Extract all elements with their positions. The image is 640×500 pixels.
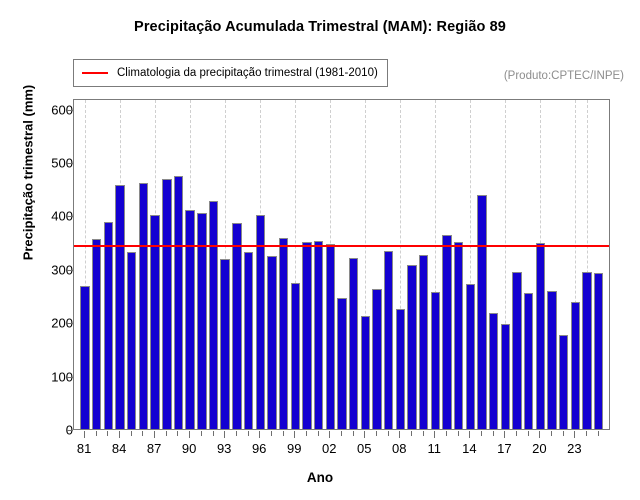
bar bbox=[337, 298, 346, 429]
x-axis-tick-mark bbox=[119, 431, 120, 438]
x-axis-tick-label: 81 bbox=[77, 441, 91, 456]
x-axis-tick-mark bbox=[481, 431, 482, 436]
x-axis-tick-label: 08 bbox=[392, 441, 406, 456]
x-axis-tick-mark bbox=[364, 431, 365, 438]
bar bbox=[372, 289, 381, 429]
x-axis-tick-labels: 818487909396990205081114172023 bbox=[73, 441, 610, 459]
bar bbox=[477, 195, 486, 429]
bar bbox=[512, 272, 521, 429]
bar bbox=[232, 223, 241, 429]
bar bbox=[454, 242, 463, 429]
x-axis-tick-label: 99 bbox=[287, 441, 301, 456]
x-axis-tick-mark bbox=[411, 431, 412, 436]
bar bbox=[80, 286, 89, 429]
bar bbox=[92, 239, 101, 429]
x-axis-tick-mark bbox=[388, 431, 389, 436]
x-axis-tick-label: 96 bbox=[252, 441, 266, 456]
bar bbox=[220, 259, 229, 429]
bar bbox=[536, 243, 545, 429]
bar bbox=[442, 235, 451, 429]
x-axis-tick-mark bbox=[248, 431, 249, 436]
x-axis-tick-mark bbox=[469, 431, 470, 438]
x-axis-tick-mark bbox=[528, 431, 529, 436]
x-axis-tick-label: 17 bbox=[497, 441, 511, 456]
bar bbox=[594, 273, 603, 429]
x-axis-tick-mark bbox=[399, 431, 400, 438]
climatology-reference-line bbox=[74, 245, 609, 247]
x-axis-tick-mark bbox=[341, 431, 342, 436]
x-axis-tick-mark bbox=[294, 431, 295, 438]
x-axis-tick-mark bbox=[586, 431, 587, 436]
x-axis-tick-label: 05 bbox=[357, 441, 371, 456]
x-axis-tick-mark bbox=[516, 431, 517, 436]
bar bbox=[244, 252, 253, 429]
bar bbox=[209, 201, 218, 429]
bar bbox=[279, 238, 288, 429]
bar bbox=[559, 335, 568, 430]
x-axis-tick-mark bbox=[96, 431, 97, 436]
bar bbox=[139, 183, 148, 429]
x-axis-tick-mark bbox=[598, 431, 599, 436]
bar bbox=[407, 265, 416, 429]
bar bbox=[489, 313, 498, 429]
legend-line-swatch bbox=[82, 72, 108, 74]
x-axis-tick-label: 20 bbox=[532, 441, 546, 456]
bar bbox=[314, 241, 323, 429]
bar bbox=[361, 316, 370, 429]
x-axis-tick-mark bbox=[306, 431, 307, 436]
x-axis-tick-mark bbox=[201, 431, 202, 436]
x-axis-tick-mark bbox=[539, 431, 540, 438]
chart-title: Precipitação Acumulada Trimestral (MAM):… bbox=[0, 19, 640, 35]
x-axis-tick-label: 84 bbox=[112, 441, 126, 456]
bar bbox=[256, 215, 265, 429]
bar bbox=[115, 185, 124, 429]
x-axis-tick-mark bbox=[318, 431, 319, 436]
x-axis-tick-marks bbox=[73, 431, 610, 439]
x-axis-tick-mark bbox=[329, 431, 330, 438]
bar bbox=[302, 242, 311, 429]
bar bbox=[326, 244, 335, 429]
x-axis-tick-label: 93 bbox=[217, 441, 231, 456]
x-axis-tick-mark bbox=[353, 431, 354, 436]
x-axis-tick-mark bbox=[259, 431, 260, 438]
bar bbox=[291, 283, 300, 429]
x-axis-tick-mark bbox=[504, 431, 505, 438]
bar bbox=[174, 176, 183, 429]
bar bbox=[127, 252, 136, 429]
x-axis-tick-mark bbox=[376, 431, 377, 436]
x-axis-tick-label: 23 bbox=[567, 441, 581, 456]
x-axis-tick-mark bbox=[154, 431, 155, 438]
x-axis-tick-mark bbox=[423, 431, 424, 436]
bar bbox=[466, 284, 475, 429]
x-axis-tick-mark bbox=[283, 431, 284, 436]
x-axis-tick-mark bbox=[131, 431, 132, 436]
x-axis-tick-mark bbox=[493, 431, 494, 436]
x-axis-tick-mark bbox=[107, 431, 108, 436]
bar bbox=[396, 309, 405, 429]
x-axis-tick-mark bbox=[177, 431, 178, 436]
x-axis-tick-mark bbox=[271, 431, 272, 436]
plot-area bbox=[73, 99, 610, 430]
precipitation-bar-chart: Precipitação Acumulada Trimestral (MAM):… bbox=[0, 0, 640, 500]
bar bbox=[150, 215, 159, 429]
x-axis-tick-label: 90 bbox=[182, 441, 196, 456]
x-axis-tick-label: 87 bbox=[147, 441, 161, 456]
y-axis-title: Precipitação trimestral (mm) bbox=[21, 23, 36, 323]
bar bbox=[349, 258, 358, 429]
x-axis-tick-label: 14 bbox=[462, 441, 476, 456]
bar bbox=[571, 302, 580, 429]
bar bbox=[162, 179, 171, 429]
legend: Climatologia da precipitação trimestral … bbox=[73, 59, 388, 87]
x-axis-tick-mark bbox=[84, 431, 85, 438]
x-axis-tick-mark bbox=[574, 431, 575, 438]
bar bbox=[104, 222, 113, 429]
x-axis-tick-mark bbox=[551, 431, 552, 436]
product-credit-note: (Produto:CPTEC/INPE) bbox=[504, 70, 624, 82]
bar bbox=[524, 293, 533, 429]
plot-inner bbox=[74, 100, 609, 429]
bar bbox=[419, 255, 428, 429]
x-axis-tick-mark bbox=[213, 431, 214, 436]
x-axis-tick-label: 11 bbox=[428, 441, 442, 456]
x-axis-tick-mark bbox=[458, 431, 459, 436]
x-axis-tick-mark bbox=[434, 431, 435, 438]
bar bbox=[431, 292, 440, 429]
bar bbox=[501, 324, 510, 429]
bar bbox=[185, 210, 194, 429]
x-axis-tick-mark bbox=[563, 431, 564, 436]
bar bbox=[267, 256, 276, 430]
legend-item-label: Climatologia da precipitação trimestral … bbox=[117, 67, 378, 79]
bar bbox=[582, 272, 591, 429]
bar bbox=[384, 251, 393, 429]
x-axis-tick-label: 02 bbox=[322, 441, 336, 456]
x-axis-tick-mark bbox=[446, 431, 447, 436]
x-axis-tick-mark bbox=[224, 431, 225, 438]
x-axis-tick-mark bbox=[236, 431, 237, 436]
bar bbox=[547, 291, 556, 429]
x-axis-tick-mark bbox=[189, 431, 190, 438]
x-axis-tick-mark bbox=[142, 431, 143, 436]
x-axis-title: Ano bbox=[0, 470, 640, 485]
x-axis-tick-mark bbox=[166, 431, 167, 436]
